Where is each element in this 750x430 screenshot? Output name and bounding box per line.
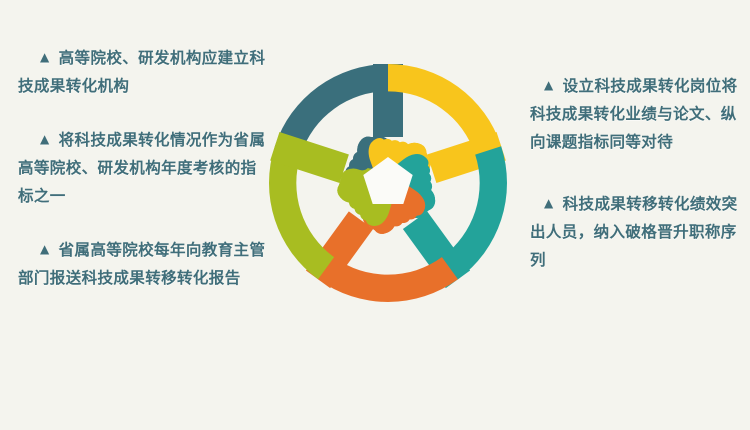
five-hands-teamwork-wheel-illustration xyxy=(243,33,533,343)
emblem-svg xyxy=(243,33,533,343)
triangle-bullet-icon: ▲ xyxy=(40,133,50,145)
note-text: 省属高等院校每年向教育主管部门报送科技成果转移转化报告 xyxy=(18,241,265,287)
list-item: ▲高等院校、研发机构应建立科技成果转化机构 xyxy=(18,44,268,100)
list-item: ▲将科技成果转化情况作为省属高等院校、研发机构年度考核的指标之一 xyxy=(18,126,268,210)
list-item: ▲科技成果转移转化绩效突出人员，纳入破格晋升职称序列 xyxy=(530,190,740,274)
note-text: 科技成果转移转化绩效突出人员，纳入破格晋升职称序列 xyxy=(530,195,738,269)
right-text-column: ▲设立科技成果转化岗位将科技成果转化业绩与论文、纵向课题指标同等对待 ▲科技成果… xyxy=(530,72,740,274)
note-text: 将科技成果转化情况作为省属高等院校、研发机构年度考核的指标之一 xyxy=(18,131,265,205)
triangle-bullet-icon: ▲ xyxy=(544,197,554,209)
note-text: 设立科技成果转化岗位将科技成果转化业绩与论文、纵向课题指标同等对待 xyxy=(530,77,738,151)
list-item: ▲设立科技成果转化岗位将科技成果转化业绩与论文、纵向课题指标同等对待 xyxy=(530,72,740,156)
poster-canvas: ▲高等院校、研发机构应建立科技成果转化机构 ▲将科技成果转化情况作为省属高等院校… xyxy=(0,0,750,430)
list-item: ▲省属高等院校每年向教育主管部门报送科技成果转移转化报告 xyxy=(18,236,268,292)
triangle-bullet-icon: ▲ xyxy=(544,79,554,91)
triangle-bullet-icon: ▲ xyxy=(40,243,50,255)
note-text: 高等院校、研发机构应建立科技成果转化机构 xyxy=(18,49,265,95)
wheel-group xyxy=(243,39,533,343)
triangle-bullet-icon: ▲ xyxy=(40,51,50,63)
left-text-column: ▲高等院校、研发机构应建立科技成果转化机构 ▲将科技成果转化情况作为省属高等院校… xyxy=(18,44,268,292)
